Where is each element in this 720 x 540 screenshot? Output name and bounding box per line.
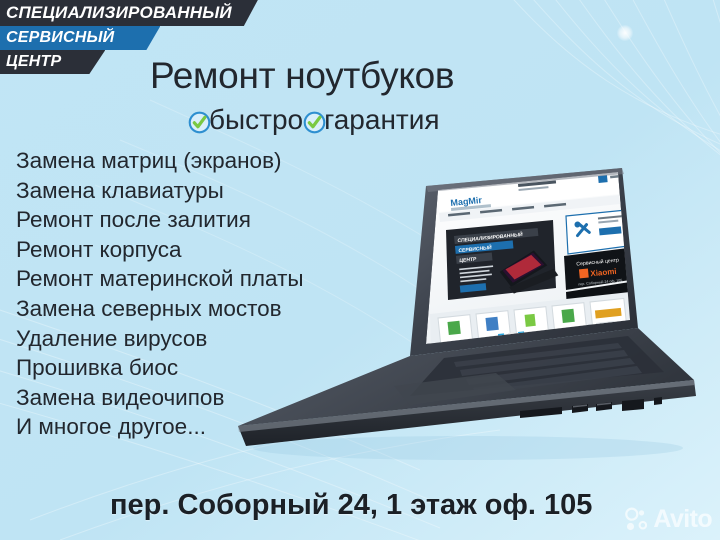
svg-text:Сервисный центр: Сервисный центр bbox=[576, 257, 619, 268]
benefit-warranty-label: гарантия bbox=[324, 104, 439, 136]
service-item: Ремонт корпуса bbox=[16, 235, 356, 265]
service-item: Замена клавиатуры bbox=[16, 176, 356, 206]
page-title: Ремонт ноутбуков bbox=[150, 55, 454, 97]
ribbon-service: СЕРВИСНЫЙ bbox=[0, 26, 160, 50]
advertisement-banner: СПЕЦИАЛИЗИРОВАННЫЙ СЕРВИСНЫЙ ЦЕНТР Ремон… bbox=[0, 0, 720, 540]
service-item: Замена матриц (экранов) bbox=[16, 146, 356, 176]
svg-text:опт и розница: опт и розница bbox=[580, 315, 629, 327]
ribbon-specialized: СПЕЦИАЛИЗИРОВАННЫЙ bbox=[0, 0, 258, 26]
check-circle-icon-2 bbox=[303, 109, 326, 132]
svg-text:СЕРВИСНЫЙ: СЕРВИСНЫЙ bbox=[458, 243, 492, 254]
address-line: пер. Соборный 24, 1 этаж оф. 105 bbox=[110, 489, 592, 522]
svg-text:MagMir: MagMir bbox=[450, 195, 483, 208]
avito-watermark: Avito bbox=[624, 505, 712, 534]
svg-text:Xiaomi: Xiaomi bbox=[590, 267, 617, 278]
light-glare-dot bbox=[617, 25, 633, 41]
svg-text:Товары: Товары bbox=[590, 292, 623, 305]
services-list: Замена матриц (экранов) Замена клавиатур… bbox=[16, 146, 356, 442]
ribbon-specialized-label: СПЕЦИАЛИЗИРОВАННЫЙ bbox=[6, 3, 232, 23]
avito-label: Avito bbox=[653, 505, 712, 534]
svg-text:СПЕЦИАЛИЗИРОВАННЫЙ: СПЕЦИАЛИЗИРОВАННЫЙ bbox=[457, 230, 523, 244]
service-item: Ремонт материнской платы bbox=[16, 264, 356, 294]
check-circle-icon bbox=[188, 109, 211, 132]
avito-logo-icon bbox=[624, 507, 650, 533]
svg-text:Xiaomi: Xiaomi bbox=[597, 304, 622, 315]
ribbon-center: ЦЕНТР bbox=[0, 50, 105, 74]
svg-text:пер. Соборный 24 оф. 105: пер. Соборный 24 оф. 105 bbox=[578, 278, 622, 286]
ribbon-service-label: СЕРВИСНЫЙ bbox=[6, 29, 114, 47]
service-item: И многое другое... bbox=[16, 412, 356, 442]
ribbon-center-label: ЦЕНТР bbox=[6, 53, 61, 71]
service-item: Замена северных мостов bbox=[16, 294, 356, 324]
benefit-fast-label: быстро bbox=[209, 104, 303, 136]
service-item: Прошивка биос bbox=[16, 353, 356, 383]
service-item: Замена видеочипов bbox=[16, 383, 356, 413]
service-item: Удаление вирусов bbox=[16, 324, 356, 354]
svg-text:ЦЕНТР: ЦЕНТР bbox=[459, 256, 477, 264]
service-item: Ремонт после залития bbox=[16, 205, 356, 235]
benefits-line: быстро гарантия bbox=[188, 104, 440, 136]
